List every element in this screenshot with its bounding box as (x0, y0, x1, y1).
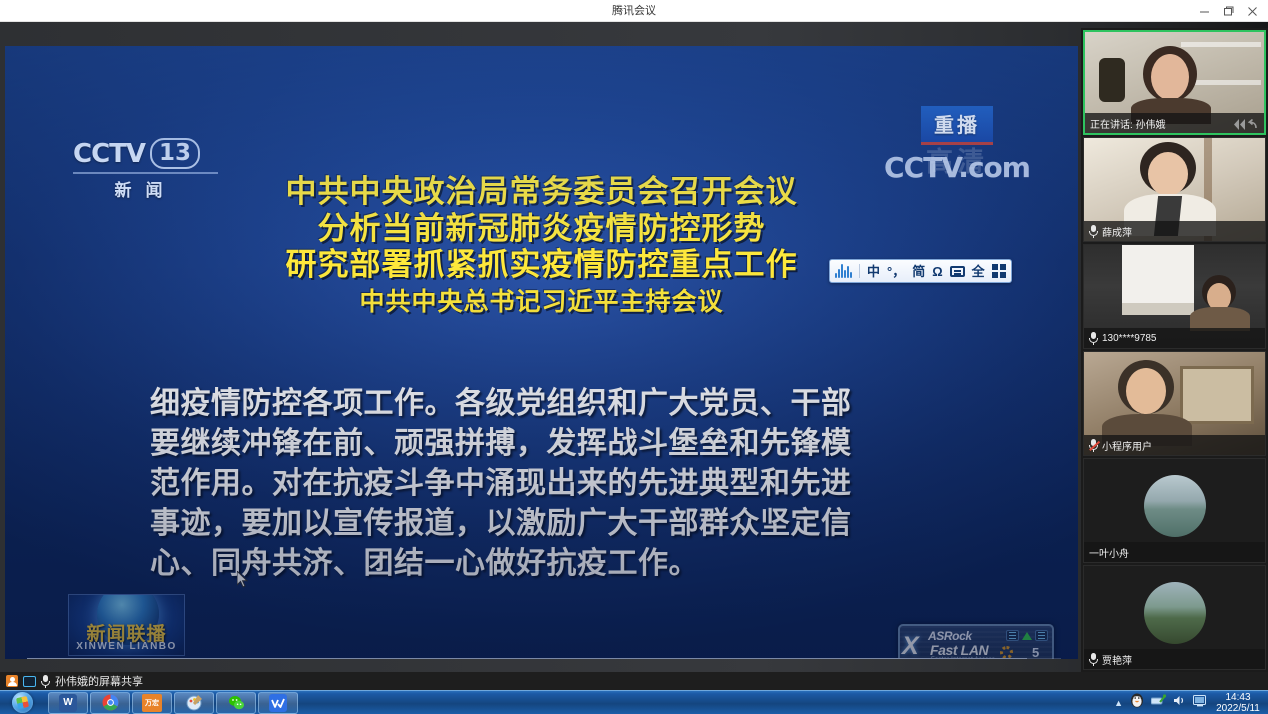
program-bug: 新闻联播 XINWEN LIANBO (68, 594, 185, 656)
participant-label-1: 薛成萍 (1084, 221, 1265, 241)
taskbar-item-wanhong[interactable]: 万宏 (132, 692, 172, 714)
participant-name-5: 贾艳萍 (1102, 652, 1132, 667)
mic-muted-icon-1 (1089, 225, 1098, 238)
participant-panel[interactable]: 正在讲话: 孙伟娥 薛成萍 (1081, 28, 1268, 672)
news-headline-block: 中共中央政治局常务委员会召开会议 分析当前新冠肺炎疫情防控形势 研究部署抓紧抓实… (5, 174, 1078, 317)
body-line-4: 事迹，要加以宣传报道，以激励广大干部群众坚定信 (150, 504, 950, 544)
participant-name-4: 一叶小舟 (1089, 545, 1129, 560)
replay-badge-label: 重播 (934, 115, 980, 137)
monitor-icon (23, 676, 36, 687)
participant-name-1: 薛成萍 (1102, 224, 1132, 239)
body-line-5: 心、同舟共济、团结一心做好抗疫工作。 (150, 544, 950, 584)
network-icon[interactable] (1151, 694, 1166, 712)
minimize-icon[interactable] (1192, 0, 1216, 22)
avatar-image-4 (1144, 475, 1206, 537)
asrock-menu-icon[interactable] (1035, 630, 1048, 641)
asrock-brand: ASRock (928, 629, 972, 643)
taskbar-items: W 万宏 (48, 692, 298, 714)
tencent-meeting-icon (269, 694, 287, 712)
taskbar-item-paint[interactable] (174, 692, 214, 714)
participant-tile-0[interactable]: 正在讲话: 孙伟娥 (1083, 30, 1266, 135)
asrock-up-arrow-icon[interactable] (1022, 632, 1032, 640)
headline-subline: 中共中央总书记习近平主持会议 (5, 288, 1078, 318)
ime-input-mode[interactable]: 中 (867, 265, 880, 278)
sogou-ime-logo-icon[interactable] (835, 264, 852, 278)
participant-tile-2[interactable]: 130****9785 (1083, 244, 1266, 349)
restore-icon[interactable] (1216, 0, 1240, 22)
asrock-value-orange: 5 (1032, 645, 1039, 659)
mic-muted-icon-5 (1089, 653, 1098, 666)
participant-label-2: 130****9785 (1084, 328, 1265, 348)
clock-date: 2022/5/11 (1214, 703, 1262, 714)
mic-icon (41, 675, 50, 688)
body-line-3: 范作用。对在抗疫斗争中涌现出来的先进典型和先进 (150, 464, 950, 504)
share-user-icon (6, 675, 18, 687)
reply-arrow-icon (1248, 119, 1259, 130)
video-progress-bar[interactable] (27, 658, 1061, 659)
body-line-1: 细疫情防控各项工作。各级党组织和广大党员、干部 (150, 384, 950, 424)
participant-label-5: 贾艳萍 (1084, 649, 1265, 669)
participant-name-2: 130****9785 (1102, 333, 1157, 344)
ime-toolbar[interactable]: 中 °， 简 Ω 全 (829, 259, 1012, 283)
start-button[interactable] (0, 691, 44, 714)
headline-line-2: 分析当前新冠肺炎疫情防控形势 (5, 211, 1078, 248)
qq-icon[interactable] (1130, 693, 1144, 713)
screen-share-status-text: 孙伟娥的屏幕共享 (55, 673, 143, 689)
clock-time: 14:43 (1214, 692, 1262, 703)
taskbar-clock[interactable]: 14:43 2022/5/11 (1214, 692, 1262, 714)
ime-punctuation-mode[interactable]: °， (887, 265, 905, 278)
taskbar-item-wechat[interactable] (216, 692, 256, 714)
app-root: 腾讯会议 CCTV 13 新闻 (0, 0, 1268, 714)
asrock-product-name: Fast LAN (930, 642, 988, 658)
participant-tile-5[interactable]: 贾艳萍 (1083, 565, 1266, 670)
participant-tile-3[interactable]: 小程序用户 (1083, 351, 1266, 456)
display-icon[interactable] (1193, 694, 1207, 712)
video-progress-fill (27, 658, 1027, 659)
mic-muted-icon-2 (1089, 332, 1098, 345)
volume-icon[interactable] (1173, 694, 1186, 712)
word-icon: W (59, 694, 77, 712)
windows-taskbar: W 万宏 (0, 690, 1268, 714)
program-bug-en: XINWEN LIANBO (69, 641, 184, 652)
ime-charset-mode[interactable]: 简 (912, 265, 925, 278)
asrock-xfast-lan-widget[interactable]: X ASRock Fast LAN Faster Internet Access… (898, 624, 1054, 659)
participant-label-4: 一叶小舟 (1084, 542, 1265, 562)
participant-name-3: 小程序用户 (1102, 438, 1152, 453)
taskbar-item-chrome[interactable] (90, 692, 130, 714)
chrome-icon (101, 694, 119, 712)
system-tray: ▲ 14:43 2022/5/11 (1114, 692, 1268, 714)
participant-label-0: 正在讲话: 孙伟娥 (1085, 113, 1264, 133)
ime-symbol-picker[interactable]: Ω (932, 265, 942, 278)
news-body-text: 细疫情防控各项工作。各级党组织和广大党员、干部 要继续冲锋在前、顽强拼搏，发挥战… (150, 384, 950, 583)
ime-toolbox-icon[interactable] (992, 264, 1006, 278)
ime-width-mode[interactable]: 全 (972, 265, 985, 278)
screen-share-status-bar: 孙伟娥的屏幕共享 (0, 672, 1268, 690)
window-controls (1192, 0, 1264, 22)
asrock-x-logo: X (902, 632, 919, 659)
cctv-wordmark: CCTV (73, 139, 145, 169)
participant-tile-1[interactable]: 薛成萍 (1083, 137, 1266, 242)
paint-icon (185, 694, 203, 712)
taskbar-item-tencent-meeting[interactable] (258, 692, 298, 714)
wanhong-icon: 万宏 (142, 694, 162, 712)
mouse-cursor (237, 571, 249, 589)
window-title-bar: 腾讯会议 (0, 0, 1268, 22)
headline-line-1: 中共中央政治局常务委员会召开会议 (5, 174, 1078, 211)
taskbar-item-word[interactable]: W (48, 692, 88, 714)
broadcast-video[interactable]: CCTV 13 新闻 重播 高清 CCTV.com 中共中央政治局常务委员会召开… (5, 46, 1078, 659)
window-title: 腾讯会议 (0, 0, 1268, 22)
asrock-list-icon[interactable] (1006, 630, 1019, 641)
close-icon[interactable] (1240, 0, 1264, 22)
participant-name-0: 正在讲话: 孙伟娥 (1090, 116, 1166, 131)
body-line-2: 要继续冲锋在前、顽强拼搏，发挥战斗堡垒和先锋模 (150, 424, 950, 464)
mic-muted-slash-icon-3 (1089, 439, 1098, 452)
participant-label-3: 小程序用户 (1084, 435, 1265, 455)
shared-screen-region[interactable]: CCTV 13 新闻 重播 高清 CCTV.com 中共中央政治局常务委员会召开… (5, 46, 1078, 659)
cctv-channel-number: 13 (150, 138, 200, 169)
windows-orb-icon (12, 692, 33, 713)
cctvcom-watermark: 重播 高清 CCTV.com (862, 106, 1052, 184)
video-on-icon (1234, 119, 1246, 130)
participant-status-icons-0 (1234, 119, 1259, 130)
show-hidden-icons-icon[interactable]: ▲ (1114, 698, 1123, 708)
soft-keyboard-icon[interactable] (950, 266, 965, 277)
ime-divider (859, 264, 860, 278)
wechat-icon (227, 694, 245, 712)
participant-tile-4[interactable]: 一叶小舟 (1083, 458, 1266, 563)
avatar-image-5 (1144, 582, 1206, 644)
asrock-toolbar[interactable] (1006, 630, 1048, 641)
